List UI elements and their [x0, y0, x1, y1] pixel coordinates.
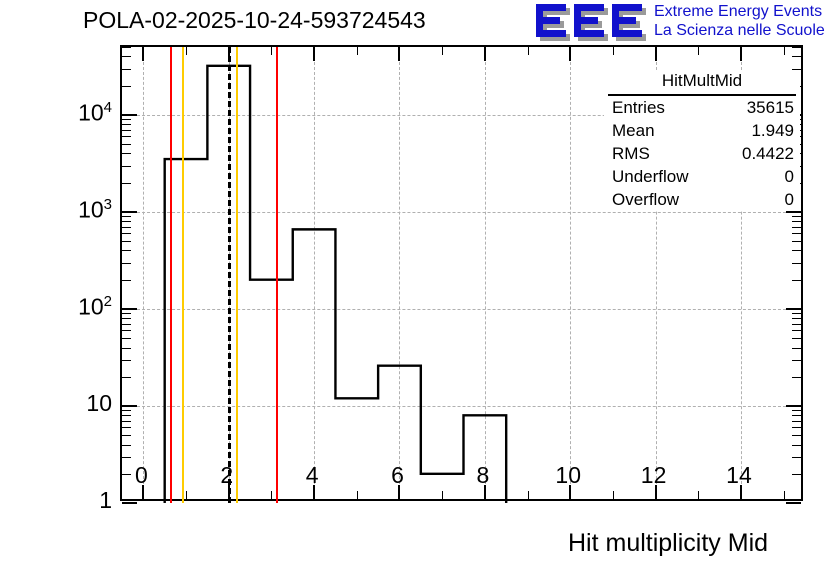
stats-row-value: 0	[785, 167, 794, 187]
y-axis-tick-label: 104	[52, 99, 112, 127]
threshold-low-red	[170, 47, 172, 503]
stats-row: Mean1.949	[604, 119, 800, 142]
x-axis-tick-label: 8	[453, 462, 513, 489]
eee-logo-letter	[612, 4, 642, 37]
threshold-low-gold	[182, 47, 184, 503]
stats-row: Overflow0	[604, 188, 800, 211]
root-canvas: POLA-02-2025-10-24-593724543 Extreme Ene…	[0, 0, 836, 572]
x-axis-tick-label: 0	[111, 462, 171, 489]
eee-logo-letter	[536, 4, 566, 37]
stats-box[interactable]: HitMultMid Entries35615Mean1.949RMS0.442…	[604, 70, 800, 211]
x-axis-title: Hit multiplicity Mid	[568, 529, 768, 558]
stats-row: RMS0.4422	[604, 142, 800, 165]
stats-row: Entries35615	[604, 96, 800, 119]
eee-logo-letter	[574, 4, 604, 37]
eee-logo-text: Extreme Energy Events La Scienza nelle S…	[654, 2, 825, 40]
stats-row-value: 0.4422	[742, 144, 794, 164]
x-axis-tick-label: 6	[367, 462, 427, 489]
stats-box-title: HitMultMid	[608, 70, 796, 96]
threshold-high-gold	[236, 47, 238, 503]
stats-row-key: Overflow	[612, 190, 679, 210]
stats-row-key: Underflow	[612, 167, 689, 187]
y-axis-tick-label: 103	[52, 196, 112, 224]
y-axis-tick-label: 10	[52, 390, 112, 417]
x-axis-tick-label: 12	[624, 462, 684, 489]
stats-row-value: 35615	[747, 98, 794, 118]
stats-row-key: Mean	[612, 121, 655, 141]
eee-logo: Extreme Energy Events La Scienza nelle S…	[536, 2, 834, 42]
x-axis-tick-label: 10	[538, 462, 598, 489]
stats-row-key: RMS	[612, 144, 650, 164]
eee-logo-mark	[536, 4, 646, 38]
page-title: POLA-02-2025-10-24-593724543	[83, 7, 426, 34]
stats-row-key: Entries	[612, 98, 665, 118]
x-axis-tick-label: 2	[197, 462, 257, 489]
threshold-high-red	[276, 47, 278, 503]
stats-row-value: 1.949	[751, 121, 794, 141]
stats-box-rows: Entries35615Mean1.949RMS0.4422Underflow0…	[604, 96, 800, 211]
y-axis-tick-label: 1	[52, 487, 112, 514]
y-axis-tick-label: 102	[52, 293, 112, 321]
x-axis-tick-label: 4	[282, 462, 342, 489]
eee-logo-line1: Extreme Energy Events	[654, 2, 825, 21]
stats-row: Underflow0	[604, 165, 800, 188]
x-axis-tick-label: 14	[709, 462, 769, 489]
mean-marker	[228, 47, 231, 503]
eee-logo-line2: La Scienza nelle Scuole	[654, 21, 825, 40]
stats-row-value: 0	[785, 190, 794, 210]
